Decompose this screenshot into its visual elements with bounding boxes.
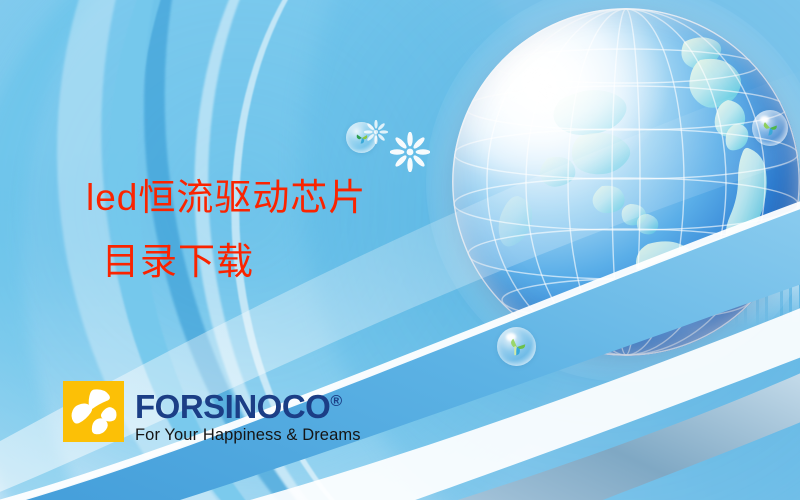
windmill-icon bbox=[353, 129, 370, 146]
banner-image: led恒流驱动芯片 目录下载 FORSINOCO® For Your Happi… bbox=[0, 0, 800, 500]
headline-line-1: led恒流驱动芯片 bbox=[86, 177, 366, 218]
logo-text-block: FORSINOCO® For Your Happiness & Dreams bbox=[135, 381, 361, 445]
brand-tagline: For Your Happiness & Dreams bbox=[135, 425, 361, 445]
headline-text: led恒流驱动芯片 目录下载 bbox=[86, 166, 506, 294]
company-logo: FORSINOCO® For Your Happiness & Dreams bbox=[63, 381, 361, 445]
brand-name: FORSINOCO® bbox=[135, 385, 361, 424]
registered-trademark-symbol: ® bbox=[330, 393, 342, 410]
bubble-windmill-lower bbox=[497, 327, 536, 366]
brand-word: FORSINOCO bbox=[135, 388, 330, 425]
windmill-icon bbox=[506, 336, 528, 358]
pinwheel-petals-icon bbox=[63, 381, 124, 442]
windmill-icon bbox=[760, 118, 780, 138]
bubble-windmill-upper bbox=[346, 122, 377, 153]
logo-mark-icon bbox=[63, 381, 124, 442]
bubble-windmill-right bbox=[752, 110, 788, 146]
headline-line-2: 目录下载 bbox=[86, 230, 506, 294]
